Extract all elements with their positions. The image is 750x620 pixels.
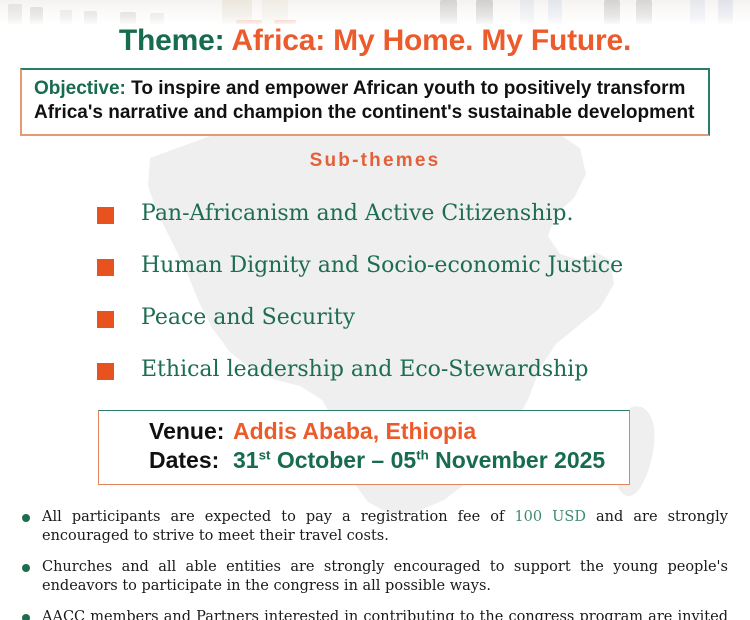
- square-bullet-icon: [97, 363, 114, 380]
- poster-canvas: Theme: Africa: My Home. My Future. Objec…: [0, 0, 750, 620]
- dates-label: Dates:: [149, 446, 233, 475]
- round-bullet-icon: [22, 564, 30, 572]
- dates-start-month: October: [270, 447, 371, 473]
- objective-body: To inspire and empower African youth to …: [34, 78, 694, 123]
- subtheme-label: Pan-Africanism and Active Citizenship.: [141, 203, 574, 225]
- square-bullet-icon: [97, 311, 114, 328]
- square-bullet-icon: [97, 259, 114, 276]
- note-highlight-fee: 100 USD: [514, 509, 586, 525]
- subtheme-label: Human Dignity and Socio-economic Justice: [141, 255, 623, 277]
- dates-value: 31st October – 05th November 2025: [233, 446, 605, 475]
- subtheme-label: Peace and Security: [141, 307, 355, 329]
- note-item: AACC members and Partners interested in …: [22, 608, 728, 620]
- note-text: AACC members and Partners interested in …: [42, 608, 728, 620]
- subtheme-item: Pan-Africanism and Active Citizenship.: [97, 203, 717, 255]
- square-bullet-icon: [97, 207, 114, 224]
- venue-row: Venue: Addis Ababa, Ethiopia: [99, 417, 629, 446]
- subtheme-item: Ethical leadership and Eco-Stewardship: [97, 359, 717, 411]
- subtheme-item: Human Dignity and Socio-economic Justice: [97, 255, 717, 307]
- note-text-part1: All participants are expected to pay a r…: [42, 509, 514, 525]
- theme-value: Africa: My Home. My Future.: [231, 24, 631, 57]
- theme-line: Theme: Africa: My Home. My Future.: [0, 24, 750, 58]
- dates-row: Dates: 31st October – 05th November 2025: [99, 446, 629, 475]
- note-text: Churches and all able entities are stron…: [42, 558, 728, 595]
- subthemes-list: Pan-Africanism and Active Citizenship. H…: [97, 203, 717, 411]
- dates-start-suffix: st: [259, 448, 271, 463]
- venue-value: Addis Ababa, Ethiopia: [233, 417, 476, 446]
- note-text: All participants are expected to pay a r…: [42, 508, 728, 545]
- venue-label: Venue:: [149, 417, 233, 446]
- notes-list: All participants are expected to pay a r…: [22, 508, 728, 620]
- dates-end-day: 05: [391, 447, 417, 473]
- dates-end-month: November 2025: [429, 447, 605, 473]
- note-item: All participants are expected to pay a r…: [22, 508, 728, 545]
- objective-text: Objective: To inspire and empower Africa…: [34, 77, 696, 126]
- subthemes-title: Sub-themes: [0, 150, 750, 172]
- subtheme-item: Peace and Security: [97, 307, 717, 359]
- note-item: Churches and all able entities are stron…: [22, 558, 728, 595]
- dates-end-suffix: th: [416, 448, 429, 463]
- round-bullet-icon: [22, 514, 30, 522]
- round-bullet-icon: [22, 614, 30, 620]
- venue-dates-box: Venue: Addis Ababa, Ethiopia Dates: 31st…: [98, 410, 630, 485]
- theme-label: Theme:: [119, 24, 225, 57]
- subtheme-label: Ethical leadership and Eco-Stewardship: [141, 359, 588, 381]
- objective-label: Objective:: [34, 78, 126, 99]
- objective-box: Objective: To inspire and empower Africa…: [20, 68, 710, 136]
- dates-dash: –: [371, 447, 390, 473]
- dates-start-day: 31: [233, 447, 259, 473]
